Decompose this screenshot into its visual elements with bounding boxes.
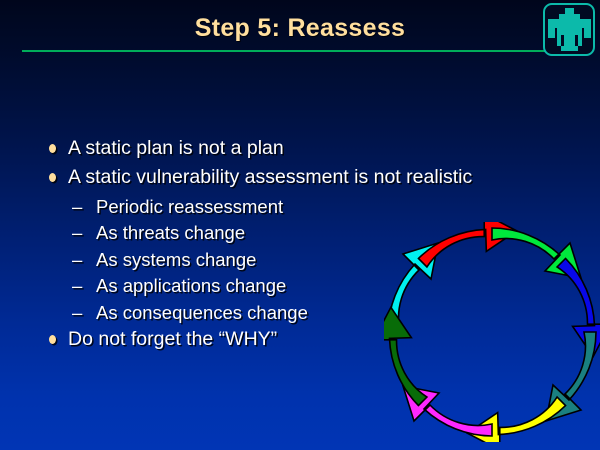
list-item: – Periodic reassessment bbox=[46, 197, 526, 216]
list-item-label: Do not forget the “WHY” bbox=[68, 328, 277, 350]
page-title: Step 5: Reassess bbox=[0, 14, 600, 43]
list-item-label: As applications change bbox=[96, 275, 286, 296]
bullet-dot-icon bbox=[49, 173, 56, 182]
list-item: A static vulnerability assessment is not… bbox=[46, 167, 526, 187]
title-divider-rule bbox=[22, 50, 578, 52]
cycle-segment-left bbox=[384, 307, 454, 405]
bullet-dash-icon: – bbox=[72, 250, 82, 269]
bullet-dot-icon bbox=[49, 335, 56, 344]
thunderbird-logo bbox=[543, 3, 595, 56]
bullet-dash-icon: – bbox=[72, 276, 82, 295]
bullet-dot-icon bbox=[49, 144, 56, 153]
list-item-label: A static vulnerability assessment is not… bbox=[68, 166, 472, 188]
bullet-dash-icon: – bbox=[72, 303, 82, 322]
list-item: A static plan is not a plan bbox=[46, 138, 526, 158]
list-item-label: Periodic reassessment bbox=[96, 196, 283, 217]
list-item-label: As threats change bbox=[96, 222, 245, 243]
bullet-dash-icon: – bbox=[72, 197, 82, 216]
bullet-dash-icon: – bbox=[72, 223, 82, 242]
eight-segment-cycle-diagram bbox=[384, 222, 600, 442]
list-item-label: A static plan is not a plan bbox=[68, 137, 284, 159]
list-item-label: As systems change bbox=[96, 249, 256, 270]
presentation-slide: Step 5: Reassess A static plan is not a bbox=[0, 0, 600, 450]
list-item-label: As consequences change bbox=[96, 302, 308, 323]
